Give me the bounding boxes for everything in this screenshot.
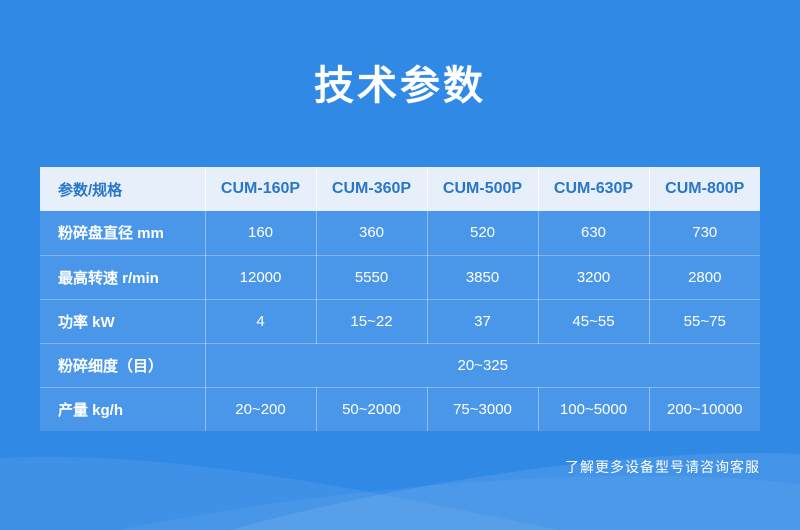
- spec-table-wrapper: 参数/规格 CUM-160P CUM-360P CUM-500P CUM-630…: [40, 167, 760, 431]
- wave-shape-left: [0, 457, 560, 530]
- cell-value: 45~55: [538, 299, 649, 343]
- column-header-model-5: CUM-800P: [649, 167, 760, 211]
- cell-value: 4: [205, 299, 316, 343]
- table-row: 功率 kW 4 15~22 37 45~55 55~75: [40, 299, 760, 343]
- bottom-wave-decoration: [0, 440, 800, 530]
- cell-value: 12000: [205, 255, 316, 299]
- column-header-param: 参数/规格: [40, 167, 205, 211]
- cell-value: 520: [427, 211, 538, 255]
- table-header-row: 参数/规格 CUM-160P CUM-360P CUM-500P CUM-630…: [40, 167, 760, 211]
- spec-table-body: 粉碎盘直径 mm 160 360 520 630 730 最高转速 r/min …: [40, 211, 760, 431]
- cell-value: 15~22: [316, 299, 427, 343]
- spec-table: 参数/规格 CUM-160P CUM-360P CUM-500P CUM-630…: [40, 167, 760, 431]
- row-label: 最高转速 r/min: [40, 255, 205, 299]
- spec-table-head: 参数/规格 CUM-160P CUM-360P CUM-500P CUM-630…: [40, 167, 760, 211]
- page-title: 技术参数: [0, 66, 800, 106]
- cell-value: 75~3000: [427, 387, 538, 431]
- row-label: 产量 kg/h: [40, 387, 205, 431]
- table-row: 产量 kg/h 20~200 50~2000 75~3000 100~5000 …: [40, 387, 760, 431]
- cell-value: 3200: [538, 255, 649, 299]
- cell-value: 360: [316, 211, 427, 255]
- column-header-model-1: CUM-160P: [205, 167, 316, 211]
- cell-value: 37: [427, 299, 538, 343]
- cell-value: 3850: [427, 255, 538, 299]
- row-label: 粉碎盘直径 mm: [40, 211, 205, 255]
- cell-value: 730: [649, 211, 760, 255]
- wave-shape-center: [120, 476, 800, 530]
- table-row: 粉碎盘直径 mm 160 360 520 630 730: [40, 211, 760, 255]
- cell-value: 20~200: [205, 387, 316, 431]
- footer-note: 了解更多设备型号请咨询客服: [565, 457, 760, 477]
- column-header-model-3: CUM-500P: [427, 167, 538, 211]
- cell-value: 55~75: [649, 299, 760, 343]
- column-header-model-2: CUM-360P: [316, 167, 427, 211]
- cell-value: 2800: [649, 255, 760, 299]
- row-label: 功率 kW: [40, 299, 205, 343]
- column-header-model-4: CUM-630P: [538, 167, 649, 211]
- cell-value: 100~5000: [538, 387, 649, 431]
- row-label: 粉碎细度（目）: [40, 343, 205, 387]
- cell-value: 50~2000: [316, 387, 427, 431]
- cell-value-merged: 20~325: [205, 343, 760, 387]
- cell-value: 160: [205, 211, 316, 255]
- cell-value: 5550: [316, 255, 427, 299]
- table-row: 粉碎细度（目） 20~325: [40, 343, 760, 387]
- cell-value: 630: [538, 211, 649, 255]
- table-row: 最高转速 r/min 12000 5550 3850 3200 2800: [40, 255, 760, 299]
- cell-value: 200~10000: [649, 387, 760, 431]
